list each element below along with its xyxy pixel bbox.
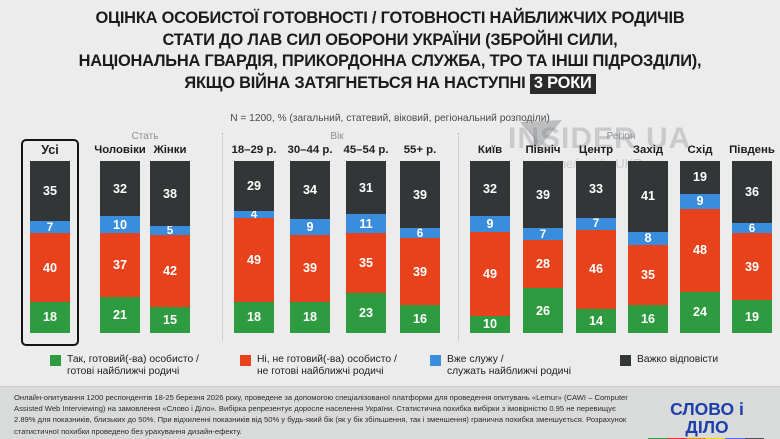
methodology-note: Онлайн-опитування 1200 респондентів 18-2… (14, 392, 629, 437)
bar-segment: 6 (732, 223, 772, 233)
bar-segment: 19 (732, 300, 772, 333)
bar-segment: 26 (523, 288, 563, 333)
bar-segment: 21 (100, 297, 140, 333)
stacked-bar[interactable]: 2944918 (234, 161, 274, 333)
stacked-bar[interactable]: 31113523 (346, 161, 386, 333)
bar-segment: 24 (680, 292, 720, 333)
slovo-i-dilo-logo: СЛОВО і ДІЛО (648, 400, 766, 439)
highlight-box-all (21, 139, 79, 346)
bar-segment: 7 (523, 228, 563, 240)
bar-segment: 14 (576, 309, 616, 333)
bar-segment: 15 (150, 307, 190, 333)
bar-segment: 39 (290, 235, 330, 302)
title-line-1: ОЦІНКА ОСОБИСТОЇ ГОТОВНОСТІ / ГОТОВНОСТІ… (0, 8, 780, 30)
legend-label: Важко відповісти (637, 354, 718, 366)
legend-swatch-icon (50, 355, 61, 366)
bar-segment: 8 (628, 232, 668, 246)
bar-segment: 6 (400, 228, 440, 238)
title-line-2: СТАТИ ДО ЛАВ СИЛ ОБОРОНИ УКРАЇНИ (ЗБРОЙН… (0, 30, 780, 52)
stacked-bar[interactable]: 3663919 (732, 161, 772, 333)
legend-label: Так, готовий(-ва) особисто / готові найб… (67, 354, 199, 379)
bar-segment: 35 (628, 245, 668, 305)
bar-segment: 38 (150, 161, 190, 226)
chart-column-13[interactable]: Південь3663919 (718, 143, 780, 333)
legend-swatch-icon (620, 355, 631, 366)
bar-segment: 19 (680, 161, 720, 194)
bar-segment: 39 (400, 238, 440, 305)
legend-item-4[interactable]: Важко відповісти (620, 354, 718, 366)
group-divider-1 (222, 133, 223, 341)
chart-column-3[interactable]: Жінки3854215 (136, 143, 204, 333)
bar-segment: 10 (100, 216, 140, 233)
bar-segment: 37 (100, 233, 140, 297)
title-line-4: ЯКЩО ВІЙНА ЗАТЯГНЕТЬСЯ НА НАСТУПНІ 3 РОК… (0, 73, 780, 95)
bar-segment: 28 (523, 240, 563, 288)
bar-segment: 36 (732, 161, 772, 223)
title-line-3: НАЦІОНАЛЬНА ГВАРДІЯ, ПРИКОРДОННА СЛУЖБА,… (0, 51, 780, 73)
stacked-bar[interactable]: 3854215 (150, 161, 190, 333)
legend-item-2[interactable]: Ні, не готовий(-ва) особисто / не готові… (240, 354, 397, 379)
bar-segment: 41 (628, 161, 668, 232)
chart-column-7[interactable]: 55+ р.3963916 (386, 143, 454, 333)
bar-segment: 46 (576, 230, 616, 309)
bar-segment: 11 (346, 214, 386, 233)
chart-subtitle: N = 1200, % (загальний, статевий, вікови… (0, 113, 780, 124)
bar-segment: 39 (732, 233, 772, 300)
bar-segment: 42 (150, 235, 190, 307)
page-title: ОЦІНКА ОСОБИСТОЇ ГОТОВНОСТІ / ГОТОВНОСТІ… (0, 8, 780, 94)
legend-item-3[interactable]: Вже служу / служать найближчі родичі (430, 354, 571, 379)
bar-segment: 9 (290, 219, 330, 234)
legend-label: Вже служу / служать найближчі родичі (447, 354, 571, 379)
bar-segment: 48 (680, 209, 720, 292)
bar-segment: 5 (150, 226, 190, 235)
bar-segment: 7 (576, 218, 616, 230)
stacked-bar[interactable]: 32103721 (100, 161, 140, 333)
stacked-bar-chart: Усі3574018Чоловіки32103721Жінки385421518… (0, 131, 780, 347)
legend-swatch-icon (240, 355, 251, 366)
column-label: Південь (718, 143, 780, 161)
bar-segment: 39 (400, 161, 440, 228)
title-line-4-text: ЯКЩО ВІЙНА ЗАТЯГНЕТЬСЯ НА НАСТУПНІ (184, 74, 525, 92)
legend-item-1[interactable]: Так, готовий(-ва) особисто / готові найб… (50, 354, 199, 379)
bar-segment: 49 (470, 232, 510, 316)
bar-segment: 32 (470, 161, 510, 216)
group-label-3: Регіон (561, 131, 681, 142)
bar-segment: 10 (470, 316, 510, 333)
bar-segment: 34 (290, 161, 330, 219)
infographic-page: ОЦІНКА ОСОБИСТОЇ ГОТОВНОСТІ / ГОТОВНОСТІ… (0, 0, 780, 439)
stacked-bar[interactable]: 1994824 (680, 161, 720, 333)
bar-segment: 16 (628, 305, 668, 333)
bar-segment: 18 (290, 302, 330, 333)
footer-bar: Онлайн-опитування 1200 респондентів 18-2… (0, 386, 780, 439)
bar-segment: 9 (470, 216, 510, 231)
bar-segment: 4 (234, 211, 274, 218)
bar-segment: 35 (346, 233, 386, 293)
bar-segment: 33 (576, 161, 616, 218)
column-label: 55+ р. (386, 143, 454, 161)
title-highlight-badge: 3 РОКИ (530, 74, 596, 94)
bar-segment: 23 (346, 293, 386, 333)
group-label-1: Стать (85, 131, 205, 142)
bar-segment: 39 (523, 161, 563, 228)
stacked-bar[interactable]: 3493918 (290, 161, 330, 333)
bar-segment: 49 (234, 218, 274, 302)
stacked-bar[interactable]: 3963916 (400, 161, 440, 333)
stacked-bar[interactable]: 4183516 (628, 161, 668, 333)
group-label-2: Вік (277, 131, 397, 142)
stacked-bar[interactable]: 3294910 (470, 161, 510, 333)
legend-label: Ні, не готовий(-ва) особисто / не готові… (257, 354, 397, 379)
column-label: Жінки (136, 143, 204, 161)
stacked-bar[interactable]: 3972826 (523, 161, 563, 333)
bar-segment: 9 (680, 194, 720, 209)
bar-segment: 31 (346, 161, 386, 214)
group-divider-2 (458, 133, 459, 341)
bar-segment: 16 (400, 305, 440, 333)
stacked-bar[interactable]: 3374614 (576, 161, 616, 333)
logo-wordmark: СЛОВО і ДІЛО (648, 400, 766, 436)
bar-segment: 32 (100, 161, 140, 216)
legend-swatch-icon (430, 355, 441, 366)
bar-segment: 18 (234, 302, 274, 333)
bar-segment: 29 (234, 161, 274, 211)
chart-legend: Так, готовий(-ва) особисто / готові найб… (0, 354, 780, 386)
